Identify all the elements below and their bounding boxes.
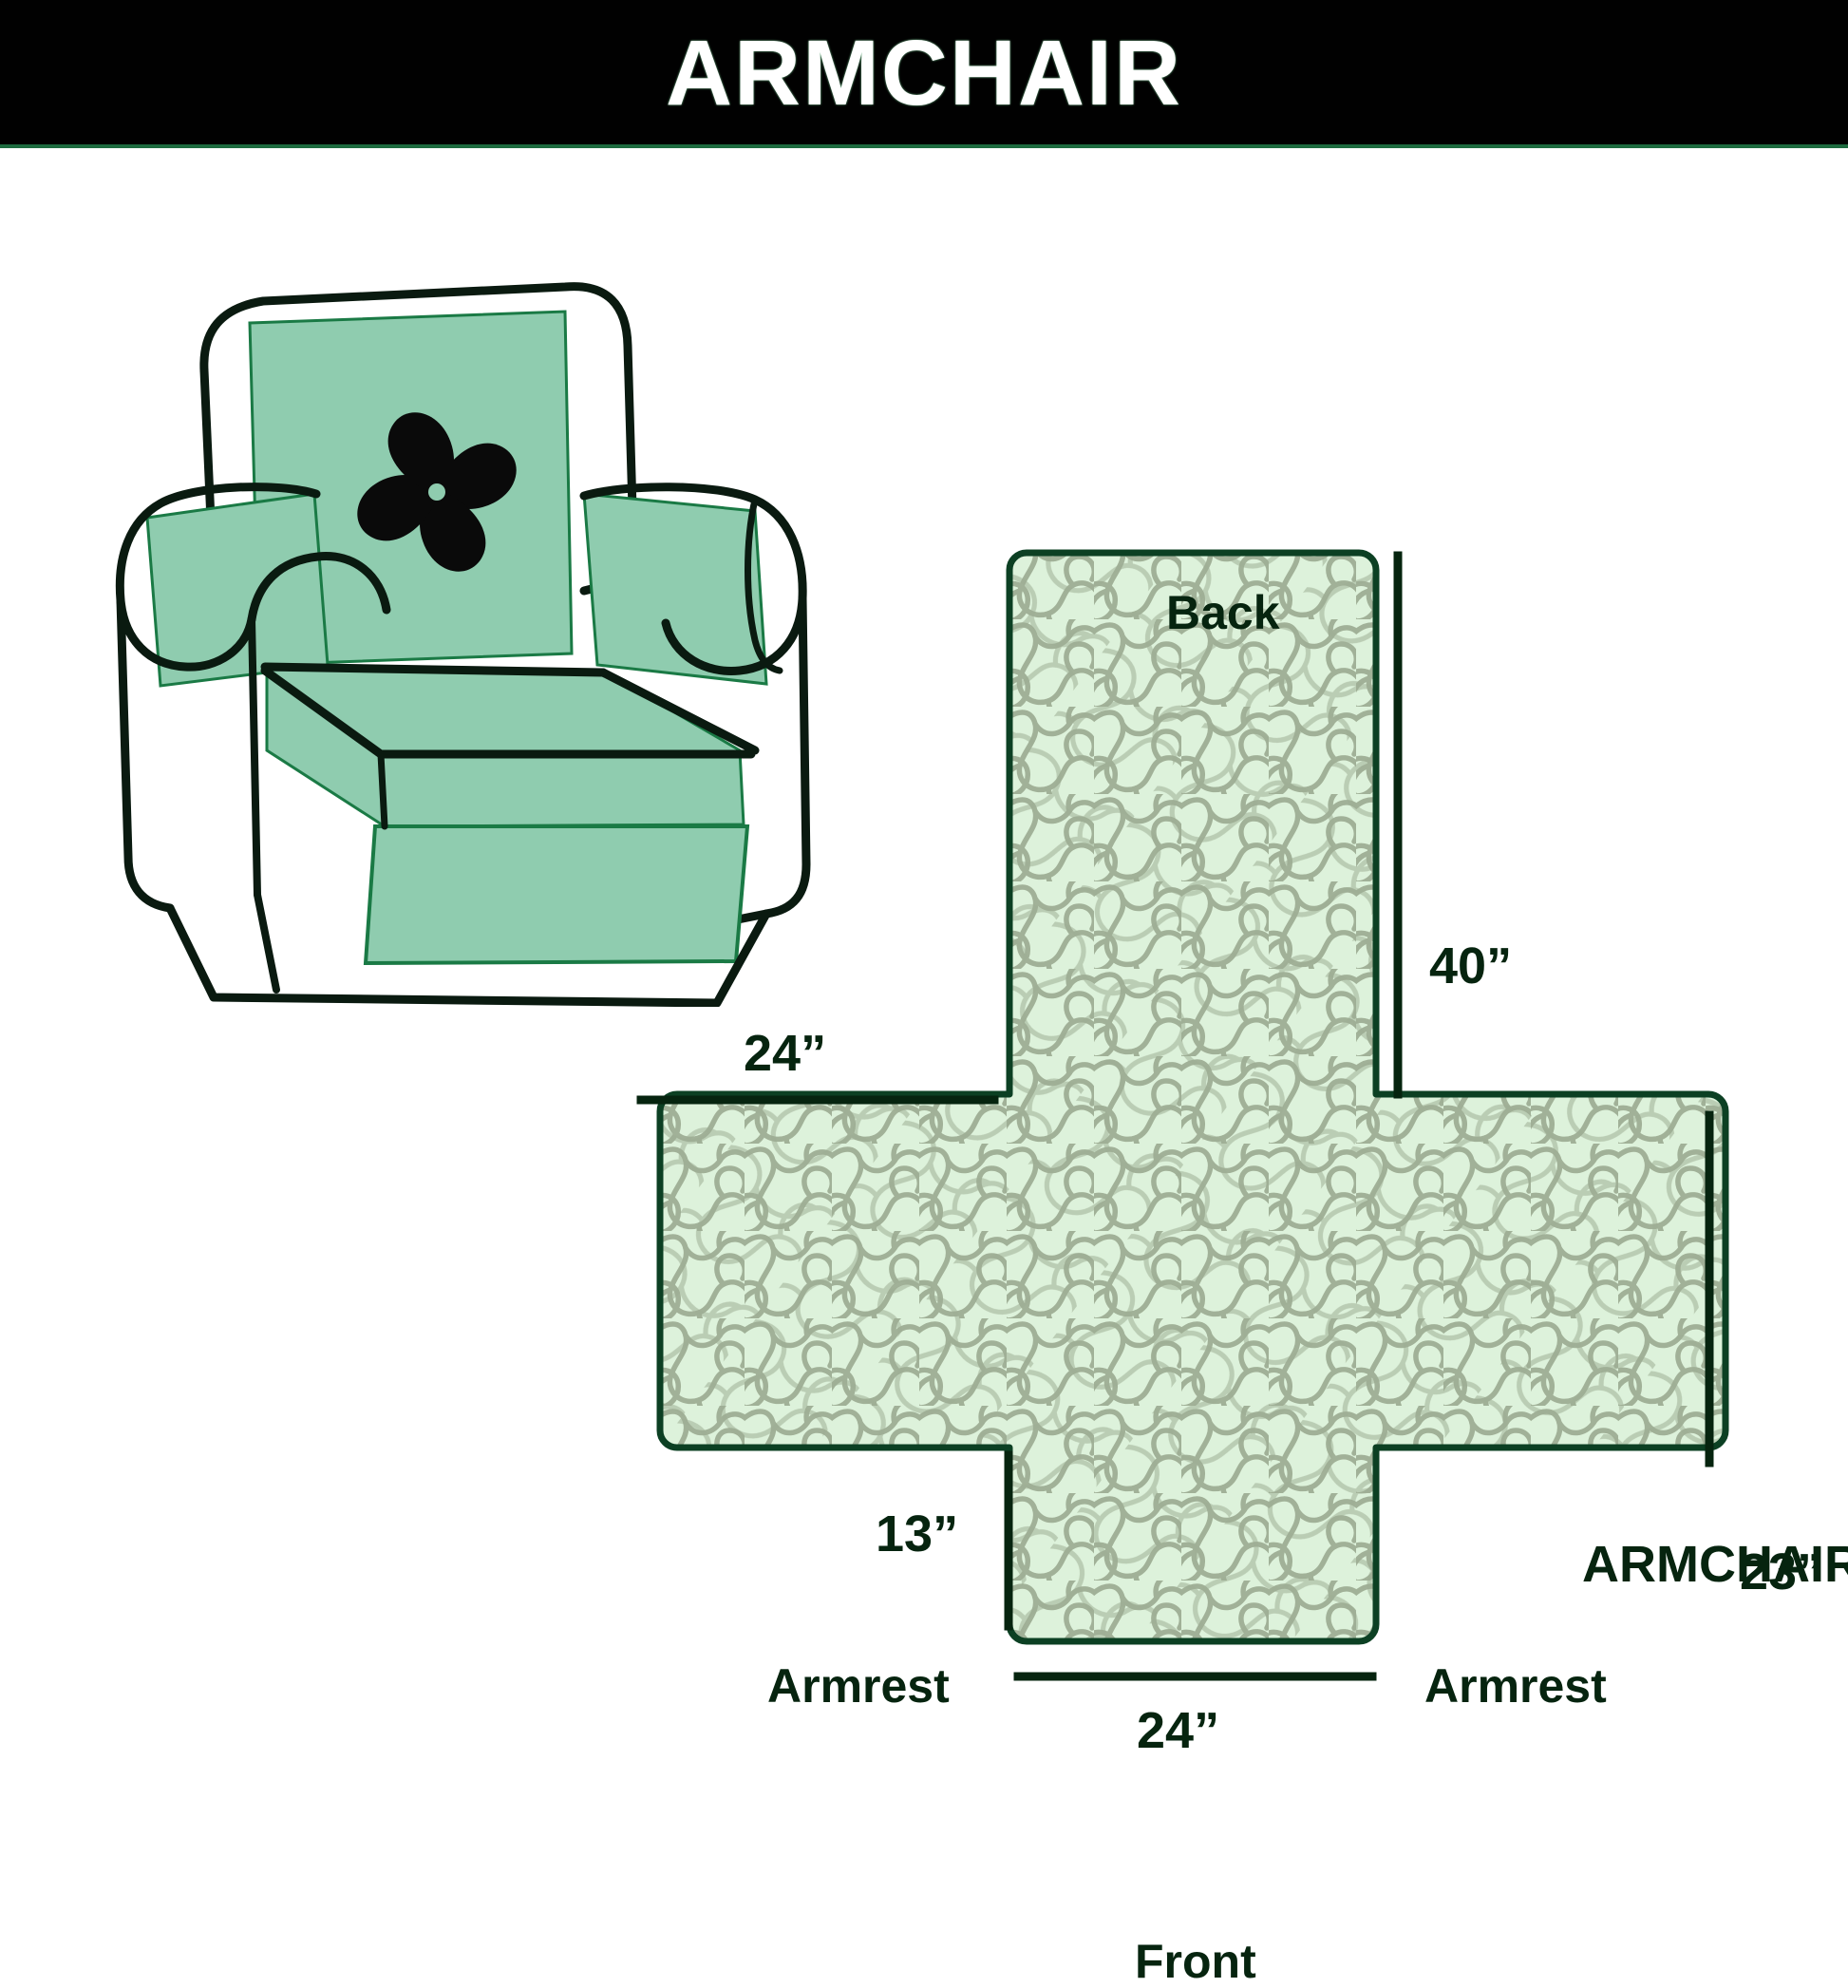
dim-label-front-width: 24” <box>1137 1705 1219 1756</box>
panel-label-left-armrest: Armrest <box>767 1662 950 1710</box>
banner-divider <box>0 144 1848 148</box>
page-title: ARMCHAIR <box>666 27 1182 119</box>
dim-label-back-height: 40” <box>1429 940 1512 992</box>
header-banner: ARMCHAIR <box>0 0 1848 144</box>
panel-label-right-armrest: Armrest <box>1424 1662 1607 1710</box>
panel-label-back: Back <box>1166 589 1280 636</box>
dim-label-back-width: 24” <box>744 1028 826 1079</box>
dim-label-armrest-depth: 23” <box>1740 1546 1822 1598</box>
page-root: ARMCHAIR <box>0 0 1848 1848</box>
slipcover-layout-diagram: Back ARMCHAIR Armrest Armrest Front 40” … <box>570 532 1848 1767</box>
dim-label-front-height: 13” <box>876 1508 958 1560</box>
panel-label-front: Front <box>1135 1938 1256 1985</box>
